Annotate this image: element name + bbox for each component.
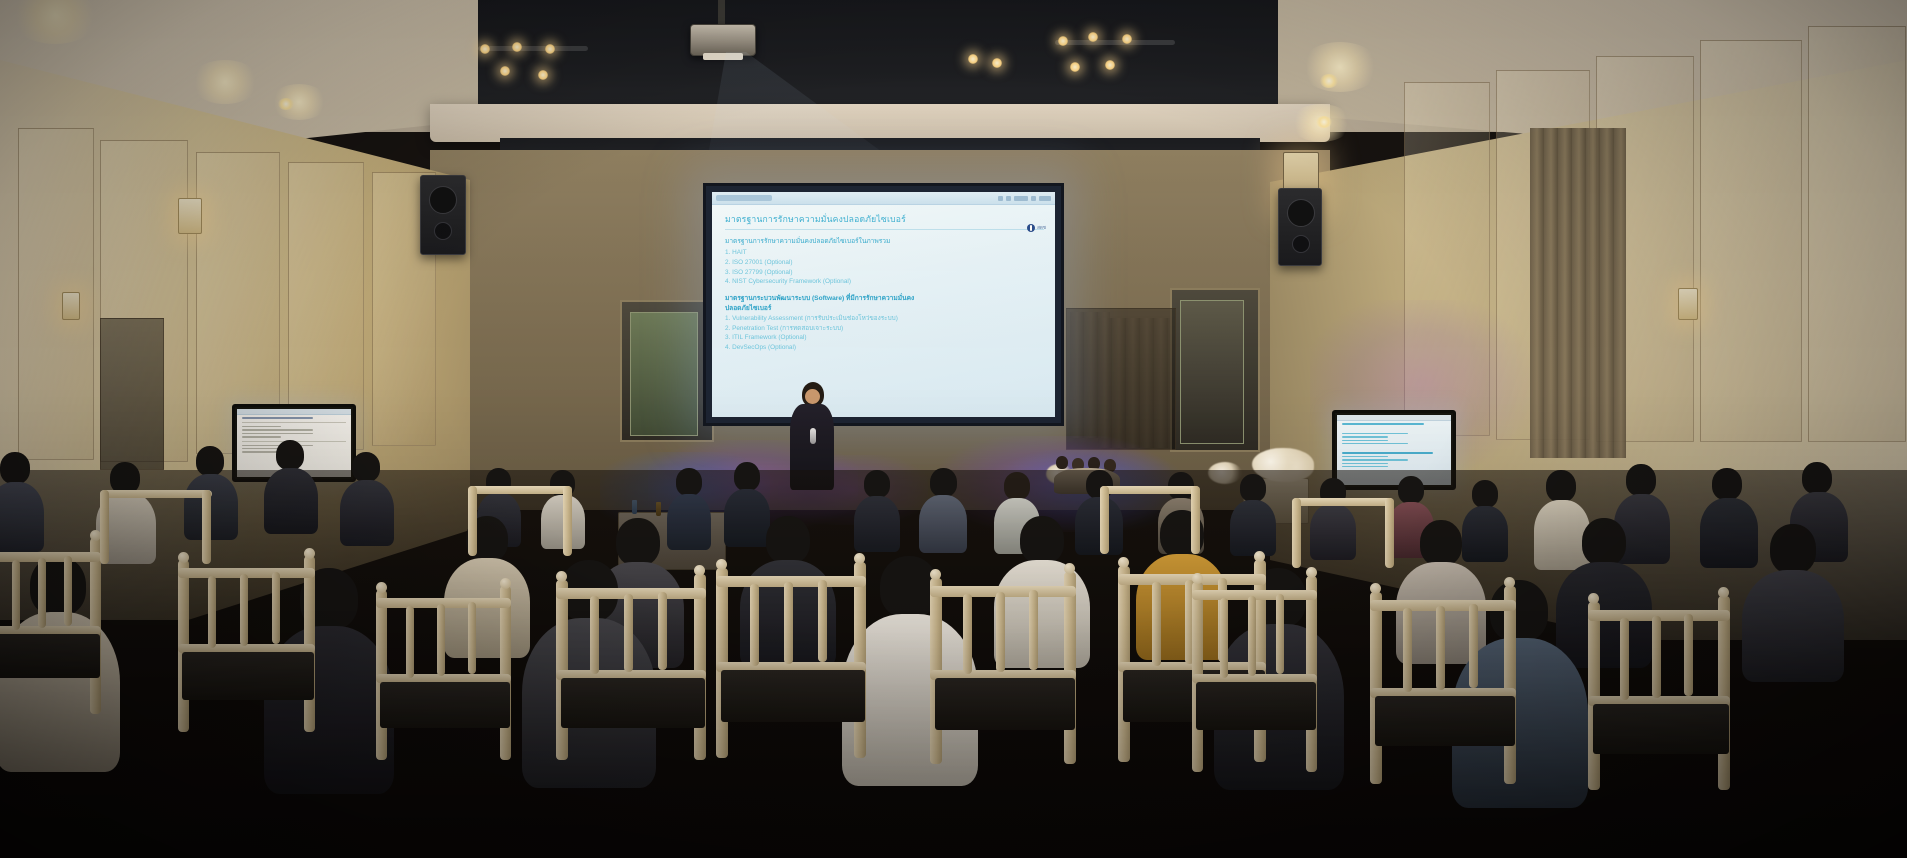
wall-sconce-right-small [1678, 288, 1698, 320]
body [740, 560, 836, 668]
head [880, 556, 938, 618]
ceiling-spot-3 [278, 98, 294, 110]
chair-post-right [694, 574, 706, 760]
left-doc-heading [242, 417, 313, 419]
right-slide-line-1 [1342, 433, 1408, 434]
projection-screen: มาตรฐานการรักษาความมั่นคงปลอดภัยไซเบอร์ … [703, 183, 1064, 426]
head [30, 556, 86, 616]
slide-section1-item-3: 3. ISO 27799 (Optional) [725, 268, 1044, 278]
head [560, 560, 618, 622]
right-slide-line-6 [1342, 456, 1388, 457]
right-slide-line-9 [1342, 466, 1388, 467]
body [340, 480, 394, 546]
slide-section2-item-4: 4. DevSecOps (Optional) [725, 343, 1044, 353]
chair-seat [380, 682, 510, 728]
right-slide-line-5 [1342, 452, 1433, 453]
body [1700, 498, 1758, 568]
body [444, 558, 530, 658]
head [300, 568, 358, 630]
chair-knob-left [1370, 583, 1381, 594]
chair-seat [1593, 704, 1729, 754]
titlebar-dot-4 [1031, 196, 1036, 201]
head [276, 440, 304, 470]
slide-content: มาตรฐานการรักษาความมั่นคงปลอดภัยไซเบอร์ … [712, 205, 1055, 417]
wall-sconce-left-low [62, 292, 80, 320]
slide-section1-item-2: 2. ISO 27001 (Optional) [725, 258, 1044, 268]
organization-emblem-icon [1027, 224, 1035, 232]
head [1168, 472, 1194, 500]
head [1770, 524, 1816, 574]
left-wall-speaker [420, 175, 466, 255]
slide-organization-logo: สดช [1027, 224, 1046, 232]
water-bottle-1 [632, 500, 637, 514]
body [1452, 638, 1588, 808]
body [1214, 624, 1344, 790]
head [930, 468, 957, 497]
chair-mid-rail [376, 674, 511, 683]
head [196, 446, 224, 476]
right-slide-line-3 [1342, 440, 1388, 441]
chair-post-left [1118, 566, 1130, 762]
right-slide-line-2 [1342, 436, 1388, 437]
titlebar-dot-2 [1006, 196, 1011, 201]
slide-section2-item-2: 2. Penetration Test (การทดสอบเจาะระบบ) [725, 324, 1044, 334]
right-monitor-screen [1337, 415, 1451, 485]
stage-person-head-1 [1056, 456, 1068, 469]
head [1240, 474, 1266, 502]
track-light-bar-right [1055, 40, 1175, 45]
chair-knob-left [1118, 557, 1129, 568]
chair-spindle-1 [406, 606, 414, 678]
slide-section2-heading-line2: ปลอดภัยไซเบอร์ [725, 304, 1044, 314]
chair-post-left [1370, 592, 1382, 784]
left-doc-rule-1 [242, 422, 346, 423]
head [1398, 476, 1424, 504]
head [1712, 468, 1742, 500]
wall-panel-l-dark [100, 318, 164, 470]
titlebar-dot-1 [998, 196, 1003, 201]
presenter-face [805, 389, 820, 404]
body [667, 494, 711, 550]
track-lamp-3 [545, 44, 555, 54]
body [919, 495, 967, 553]
head [1802, 462, 1832, 494]
titlebar-app-chip [716, 195, 772, 201]
track-lamp-12 [992, 58, 1002, 68]
body [1556, 562, 1652, 668]
head [466, 516, 508, 562]
slide-section2-item-3: 3. ITIL Framework (Optional) [725, 333, 1044, 343]
head [766, 516, 810, 564]
body [96, 492, 156, 564]
track-lamp-11 [968, 54, 978, 64]
projector-mount [718, 0, 725, 26]
head [1320, 478, 1346, 506]
body [541, 495, 585, 549]
left-doc-line-6 [242, 448, 281, 449]
chair-knob-right [854, 553, 865, 564]
left-doc-line-7 [242, 451, 281, 452]
wall-sconce-left [178, 198, 202, 234]
left-monitor-titlebar [237, 409, 351, 415]
track-lamp-7 [1088, 32, 1098, 42]
head [1004, 472, 1030, 500]
head [110, 462, 140, 494]
slide-section1-item-1: 1. HAIT [725, 248, 1044, 258]
track-lamp-5 [538, 70, 548, 80]
head [0, 452, 30, 484]
titlebar-dot-3 [1014, 196, 1028, 201]
head [1250, 568, 1306, 628]
head [1020, 516, 1064, 564]
body [854, 496, 900, 552]
body [1310, 504, 1356, 560]
head [616, 518, 660, 566]
projection-screen-surface: มาตรฐานการรักษาความมั่นคงปลอดภัยไซเบอร์ … [712, 192, 1055, 417]
curtain-right [1530, 128, 1626, 458]
track-lamp-10 [1105, 60, 1115, 70]
body [1136, 554, 1228, 660]
track-lamp-9 [1070, 62, 1080, 72]
body [1075, 497, 1123, 555]
green-door-panel [630, 312, 698, 436]
right-confidence-monitor [1332, 410, 1456, 490]
body [0, 482, 44, 552]
slide-section2-item-1: 1. Vulnerability Assessment (การรับประเม… [725, 314, 1044, 324]
slide-section1-heading: มาตรฐานการรักษาความมั่นคงปลอดภัยไซเบอร์ใ… [725, 237, 1044, 247]
track-lamp-6 [1058, 36, 1068, 46]
slide-logo-label: สดช [1037, 225, 1046, 232]
track-light-bar-left [478, 46, 588, 51]
chair-knob-left [376, 582, 387, 593]
body [522, 618, 656, 788]
chair-mid-rail [1588, 696, 1730, 706]
right-wall-speaker [1278, 188, 1322, 266]
presenter-body [790, 404, 834, 490]
head [1626, 464, 1656, 496]
body [0, 612, 120, 772]
right-slide-line-7 [1342, 459, 1408, 460]
back-wall-recess [1066, 308, 1176, 450]
left-doc-line-3 [242, 433, 313, 434]
slide-section2-heading-line1: มาตรฐานกระบวนพัฒนาระบบ (Software) ที่มีก… [725, 294, 1044, 304]
head [486, 468, 511, 495]
track-lamp-2 [512, 42, 522, 52]
head [352, 452, 380, 482]
body [264, 468, 318, 534]
left-doc-line-4 [242, 436, 281, 437]
right-slide-title-line [1342, 423, 1424, 425]
handheld-microphone [810, 428, 816, 444]
head [734, 462, 760, 491]
right-slide-line-4 [1342, 443, 1408, 444]
slide-spacer [725, 287, 1044, 294]
right-monitor-titlebar [1337, 415, 1451, 421]
head [1420, 520, 1462, 566]
seminar-hall-photo: มาตรฐานการรักษาความมั่นคงปลอดภัยไซเบอร์ … [0, 0, 1907, 858]
wall-panel-r4 [1700, 40, 1802, 442]
ceiling-projector [690, 24, 756, 56]
titlebar-controls [998, 196, 1051, 201]
body [994, 560, 1090, 668]
body [1742, 570, 1844, 682]
slide-title: มาตรฐานการรักษาความมั่นคงปลอดภัยไซเบอร์ [725, 212, 1044, 230]
head [1086, 470, 1113, 499]
head [1582, 518, 1626, 566]
head [1160, 510, 1204, 558]
body [842, 614, 978, 786]
slide-section1-item-4: 4. NIST Cybersecurity Framework (Optiona… [725, 277, 1044, 287]
body [1230, 500, 1276, 556]
track-lamp-8 [1122, 34, 1132, 44]
back-door-inner [1180, 300, 1244, 444]
head [676, 468, 702, 496]
floral-arrangement-small [1208, 462, 1242, 484]
left-doc-line-2 [242, 429, 313, 430]
head [1490, 580, 1548, 642]
head [864, 470, 890, 498]
track-lamp-4 [500, 66, 510, 76]
body [184, 474, 238, 540]
ceiling-soffit [430, 104, 1330, 142]
body [1396, 562, 1486, 664]
head [1472, 480, 1498, 508]
slide-window-titlebar [712, 192, 1055, 205]
wall-panel-r5 [1808, 26, 1906, 442]
water-bottle-2 [656, 502, 661, 516]
body [724, 489, 770, 547]
wall-panel-l1 [18, 128, 94, 460]
right-slide-line-8 [1342, 463, 1388, 464]
titlebar-dot-5 [1039, 196, 1051, 201]
track-lamp-1 [480, 44, 490, 54]
ceiling-spot-2 [1316, 116, 1332, 128]
chair-post-left [716, 568, 728, 758]
wall-panel-r1 [1404, 82, 1490, 436]
body [264, 626, 394, 794]
ceiling-spot-1 [1320, 74, 1338, 88]
body [1462, 506, 1508, 562]
head [550, 470, 575, 497]
left-doc-line-1 [242, 426, 281, 427]
head [1546, 470, 1576, 502]
